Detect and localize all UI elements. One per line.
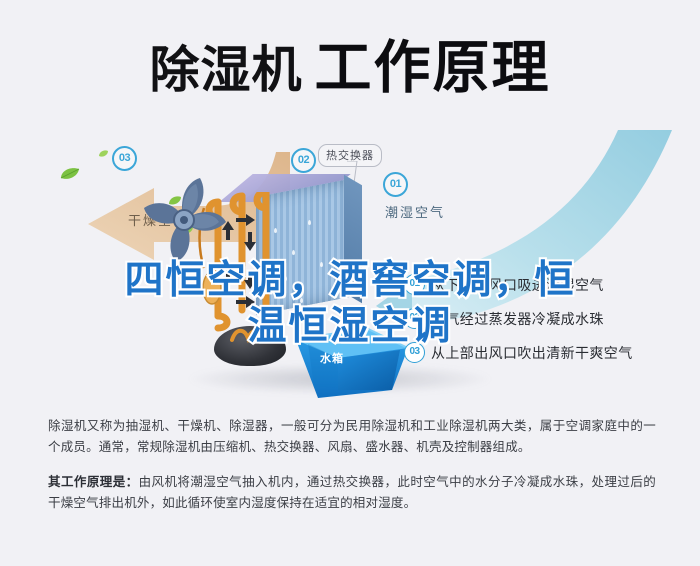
leaf-icon: [98, 150, 109, 158]
heat-exchanger-side: [344, 175, 362, 303]
leaf-icon: [60, 168, 80, 181]
step-number-badge: 01: [404, 274, 425, 295]
water-tank-label: 水箱: [320, 350, 344, 366]
page-title-part1: 除湿机: [150, 42, 303, 98]
badge-03-diagram: 03: [112, 146, 137, 171]
list-item: 01 从下部进风口吸进潮湿空气: [404, 274, 694, 295]
dehumidifier-unit-graphic: [196, 158, 416, 388]
paragraph-2: 其工作原理是：由风机将潮湿空气抽入机内，通过热交换器，此时空气中的水分子冷凝成水…: [48, 472, 656, 514]
paragraph-1: 除湿机又称为抽湿机、干燥机、除湿器，一般可分为民用除湿机和工业除湿机两大类，属于…: [48, 416, 656, 458]
paragraph-2-lead: 其工作原理是：: [48, 475, 139, 489]
compressor-coil: [230, 326, 270, 344]
step-number-badge: 02: [404, 308, 425, 329]
paragraph-2-rest: 由风机将潮湿空气抽入机内，通过热交换器，此时空气中的水分子冷凝成水珠，处理过后的…: [48, 475, 656, 510]
page-title-part2: 工作原理: [315, 36, 551, 100]
page-title: 除湿机工作原理: [0, 22, 700, 104]
infographic-page: 除湿机工作原理: [0, 0, 700, 566]
fan-graphic: [138, 174, 230, 266]
dehumidifier-diagram: 干燥空气 潮湿空气 03 02 01 热交换器: [0, 128, 700, 400]
step-number-badge: 03: [404, 342, 425, 363]
water-tank-graphic: [292, 328, 410, 400]
step-text: 从上部出风口吹出清新干爽空气: [431, 343, 633, 363]
step-text: 空气经过蒸发器冷凝成水珠: [431, 309, 604, 329]
step-list: 01 从下部进风口吸进潮湿空气 02 空气经过蒸发器冷凝成水珠 03 从上部出风…: [404, 274, 694, 376]
list-item: 02 空气经过蒸发器冷凝成水珠: [404, 308, 694, 329]
step-text: 从下部进风口吸进潮湿空气: [431, 275, 604, 295]
list-item: 03 从上部出风口吹出清新干爽空气: [404, 342, 694, 363]
body-copy: 除湿机又称为抽湿机、干燥机、除湿器，一般可分为民用除湿机和工业除湿机两大类，属于…: [48, 416, 656, 520]
